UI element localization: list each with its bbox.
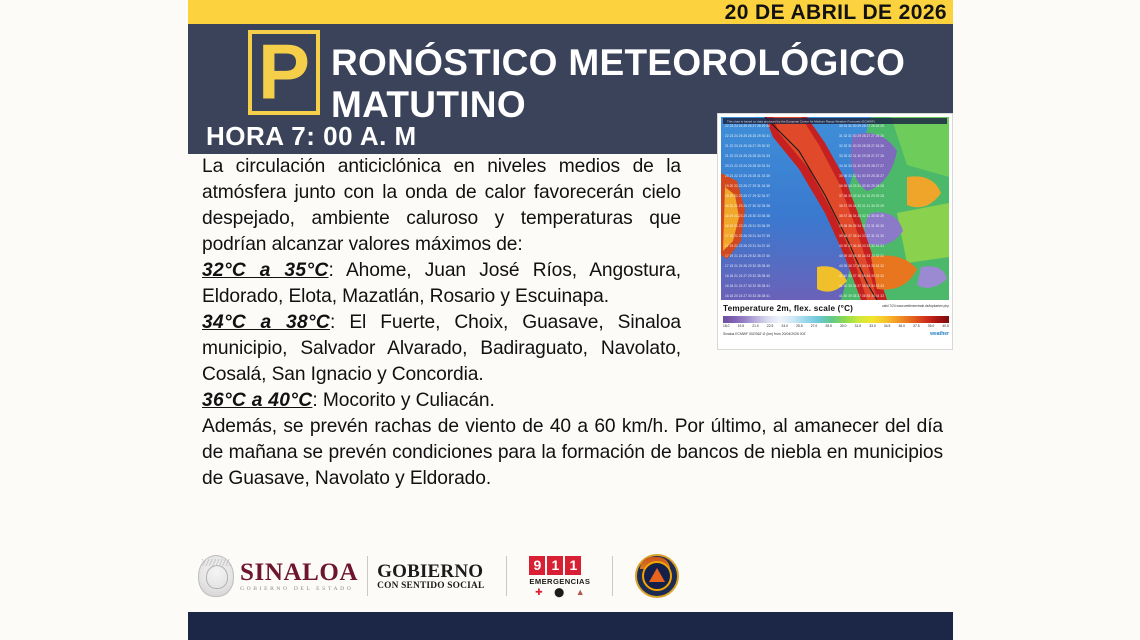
- scale-tick: 25.5: [796, 324, 802, 328]
- medical-cross-icon: ✚: [535, 588, 543, 597]
- p-logo-letter: P: [252, 32, 316, 110]
- emergency-label: EMERGENCIAS: [529, 577, 590, 586]
- date-bar: 20 DE ABRIL DE 2026: [188, 0, 953, 24]
- forecast-date: 20 DE ABRIL DE 2026: [725, 1, 947, 25]
- svg-text:41 40 39 38 37 36 35 34 34 33: 41 40 39 38 37 36 35 34 34 33: [839, 294, 884, 298]
- temp-range-key-1: 34°C a 38°C: [202, 312, 330, 333]
- svg-text:17 19 21 24 26 29 32 35 38 40: 17 19 21 24 26 29 32 35 38 40: [725, 264, 770, 268]
- svg-text:18 19 21 23 25 28 31 33 36 39: 18 19 21 23 25 28 31 33 36 39: [725, 224, 770, 228]
- emergency-service-icons: ✚ ⬤ ▲: [529, 588, 590, 597]
- svg-text:31 32 31 30 29 28 27 27 26 25: 31 32 31 30 29 28 27 27 26 25: [839, 134, 884, 138]
- forecast-poster: 20 DE ABRIL DE 2026 P RONÓSTICO METEOROL…: [188, 0, 953, 640]
- svg-text:36 35 34 33 31 30 30 29 28 28: 36 35 34 33 31 30 30 29 28 28: [839, 184, 884, 188]
- svg-text:17 19 21 23 26 28 31 34 37 39: 17 19 21 23 26 28 31 34 37 39: [725, 234, 770, 238]
- temperature-map-plot: 22 23 24 24 25 26 27 28 29 30 22 23 24 2…: [721, 117, 949, 300]
- svg-text:33 33 32 31 30 29 28 27 27 26: 33 33 32 31 30 29 28 27 27 26: [839, 154, 884, 158]
- p-logo-badge: P: [248, 30, 320, 115]
- temperature-map-svg: 22 23 24 24 25 26 27 28 29 30 22 23 24 2…: [721, 117, 949, 300]
- temp-range-sep-2: :: [312, 390, 322, 411]
- sinaloa-word: SINALOA: [240, 560, 358, 585]
- fire-icon: ▲: [576, 588, 585, 597]
- svg-text:32 32 31 30 29 28 28 27 26 26: 32 32 31 30 29 28 28 27 26 26: [839, 144, 884, 148]
- svg-text:37 36 35 33 32 31 30 29 29 28: 37 36 35 33 32 31 30 29 29 28: [839, 194, 884, 198]
- svg-text:40 39 38 36 35 34 33 32 32 31: 40 39 38 36 35 34 33 32 32 31: [839, 254, 884, 258]
- map-caption-meta: valid 7/24 www.wetterzentrale.de/topkart…: [882, 304, 949, 308]
- civil-protection-seal-icon: [635, 554, 679, 598]
- svg-text:20 21 22 23 24 26 28 30 32 34: 20 21 22 23 24 26 28 30 32 34: [725, 164, 770, 168]
- scale-tick: 31.5: [855, 324, 861, 328]
- svg-text:21 22 23 24 25 26 28 30 31 33: 21 22 23 24 25 26 28 30 31 33: [725, 154, 770, 158]
- map-brand-logo: weather: [930, 331, 949, 337]
- closing-paragraph: Además, se prevén rachas de viento de 40…: [202, 414, 943, 492]
- temp-range-sep-1: :: [330, 312, 349, 333]
- scale-tick: 33.0: [869, 324, 875, 328]
- temp-range-key-0: 32°C a 35°C: [202, 260, 329, 281]
- svg-text:39 38 37 35 34 33 32 31 31 30: 39 38 37 35 34 33 32 31 31 30: [839, 234, 884, 238]
- svg-text:16 18 21 24 27 29 32 35 38 40: 16 18 21 24 27 29 32 35 38 40: [725, 274, 770, 278]
- map-caption: Temperature 2m, flex. scale (°C) valid 7…: [723, 304, 949, 337]
- scale-tick: 36.0: [899, 324, 905, 328]
- temp-range-places-2: Mocorito y Culiacán.: [323, 390, 495, 411]
- police-icon: ⬤: [554, 588, 564, 597]
- sinaloa-subtitle: GOBIERNO DEL ESTADO: [240, 586, 358, 592]
- scale-tick: 34.5: [884, 324, 890, 328]
- scale-tick: 28.5: [825, 324, 831, 328]
- logo-row: SINALOA GOBIERNO DEL ESTADO GOBIERNO CON…: [198, 550, 679, 602]
- svg-text:38 37 36 34 33 32 31 30 30 29: 38 37 36 34 33 32 31 30 30 29: [839, 214, 884, 218]
- temp-range-sep-0: :: [329, 260, 346, 281]
- logo-divider-1: [367, 556, 368, 596]
- svg-text:18 19 21 23 25 28 30 33 36 38: 18 19 21 23 25 28 30 33 36 38: [725, 214, 770, 218]
- scale-tick: 30.0: [840, 324, 846, 328]
- svg-text:41 40 39 38 37 35 35 34 33 33: 41 40 39 38 37 35 35 34 33 33: [839, 284, 884, 288]
- bottom-bar: [188, 612, 953, 640]
- svg-text:19 20 21 23 25 27 29 32 34 37: 19 20 21 23 25 27 29 32 34 37: [725, 194, 770, 198]
- scale-tick: 27.0: [811, 324, 817, 328]
- seal-triangle: [649, 568, 665, 582]
- svg-text:16 18 21 24 27 30 32 35 38 41: 16 18 21 24 27 30 32 35 38 41: [725, 284, 770, 288]
- svg-text:35 35 33 32 31 30 29 28 28 27: 35 35 33 32 31 30 29 28 28 27: [839, 174, 884, 178]
- scale-tick: 22.5: [767, 324, 773, 328]
- emergency-digit: 9: [529, 556, 545, 575]
- map-caption-footer: Sinaloa ECMWF 00Z/06Z t2 (km) from 20/04…: [723, 332, 949, 337]
- svg-text:40 39 38 37 36 34 34 33 32 32: 40 39 38 37 36 34 34 33 32 32: [839, 264, 884, 268]
- sinaloa-seal-icon: [198, 555, 234, 597]
- svg-text:16 18 20 24 27 30 33 36 38 41: 16 18 20 24 27 30 33 36 38 41: [725, 294, 770, 298]
- scale-tick: 39.0: [928, 324, 934, 328]
- svg-text:34 34 33 31 30 29 29 28 27 27: 34 34 33 31 30 29 29 28 27 27: [839, 164, 884, 168]
- poster-footer: SINALOA GOBIERNO DEL ESTADO GOBIERNO CON…: [188, 544, 953, 612]
- logo-divider-3: [612, 556, 613, 596]
- scale-tick: 18.0: [723, 324, 729, 328]
- range-paragraph-2: 36°C a 40°C: Mocorito y Culiacán.: [202, 388, 943, 414]
- svg-text:38 37 35 34 33 31 31 30 29 29: 38 37 35 34 33 31 31 30 29 29: [839, 204, 884, 208]
- svg-text:40 39 37 36 35 33 33 32 31 31: 40 39 37 36 35 33 33 32 31 31: [839, 244, 884, 248]
- svg-text:22 23 24 25 25 26 28 29 30 31: 22 23 24 25 25 26 28 29 30 31: [725, 134, 770, 138]
- svg-text:30 31 31 30 29 28 27 26 26 25: 30 31 31 30 29 28 27 26 26 25: [839, 124, 884, 128]
- sinaloa-wordmark: SINALOA GOBIERNO DEL ESTADO: [240, 560, 358, 592]
- map-card: 22 23 24 24 25 26 27 28 29 30 22 23 24 2…: [717, 113, 953, 350]
- scale-tick: 19.5: [738, 324, 744, 328]
- svg-text:18 20 21 23 25 27 30 32 35 38: 18 20 21 23 25 27 30 32 35 38: [725, 204, 770, 208]
- svg-text:17 19 21 23 26 29 31 34 37 40: 17 19 21 23 26 29 31 34 37 40: [725, 244, 770, 248]
- scale-tick: 24.0: [782, 324, 788, 328]
- gobierno-wordmark: GOBIERNO CON SENTIDO SOCIAL: [377, 562, 484, 591]
- svg-text:22 23 24 24 25 26 27 28 29 30: 22 23 24 24 25 26 27 28 29 30: [725, 124, 770, 128]
- title-line-1: RONÓSTICO METEOROLÓGICO: [331, 42, 931, 84]
- svg-text:39 38 36 35 34 32 32 31 30 30: 39 38 36 35 34 32 32 31 30 30: [839, 224, 884, 228]
- scale-tick: 37.5: [913, 324, 919, 328]
- svg-text:19 20 22 23 25 27 29 31 34 36: 19 20 22 23 25 27 29 31 34 36: [725, 184, 770, 188]
- logo-divider-2: [506, 556, 507, 596]
- svg-text:This chart is based on data pr: This chart is based on data produced by …: [727, 120, 875, 124]
- scale-tick: 40.5: [942, 324, 948, 328]
- emergency-digit: 1: [547, 556, 563, 575]
- svg-text:41 40 38 37 36 35 34 33 33 32: 41 40 38 37 36 35 34 33 33 32: [839, 274, 884, 278]
- weather-map: 22 23 24 24 25 26 27 28 29 30 22 23 24 2…: [708, 113, 953, 350]
- svg-text:17 19 21 24 26 29 32 35 37 40: 17 19 21 24 26 29 32 35 37 40: [725, 254, 770, 258]
- gobierno-subtitle: CON SENTIDO SOCIAL: [377, 581, 484, 591]
- map-scale-ticks: 18.0 19.5 21.0 22.5 24.0 25.5 27.0 28.5 …: [723, 324, 949, 328]
- emergency-digit: 1: [565, 556, 581, 575]
- forecast-hour: HORA 7: 00 A. M: [206, 122, 417, 150]
- svg-text:20 21 22 23 25 26 28 31 33 35: 20 21 22 23 25 26 28 31 33 35: [725, 174, 770, 178]
- emergency-911-logo: 9 1 1 EMERGENCIAS ✚ ⬤ ▲: [529, 556, 590, 597]
- emergency-digits: 9 1 1: [529, 556, 590, 575]
- gobierno-word: GOBIERNO: [377, 562, 484, 581]
- scale-tick: 21.0: [752, 324, 758, 328]
- temp-range-key-2: 36°C a 40°C: [202, 390, 312, 411]
- map-color-scale: [723, 316, 949, 323]
- svg-text:21 22 23 24 25 26 27 29 30 32: 21 22 23 24 25 26 27 29 30 32: [725, 144, 770, 148]
